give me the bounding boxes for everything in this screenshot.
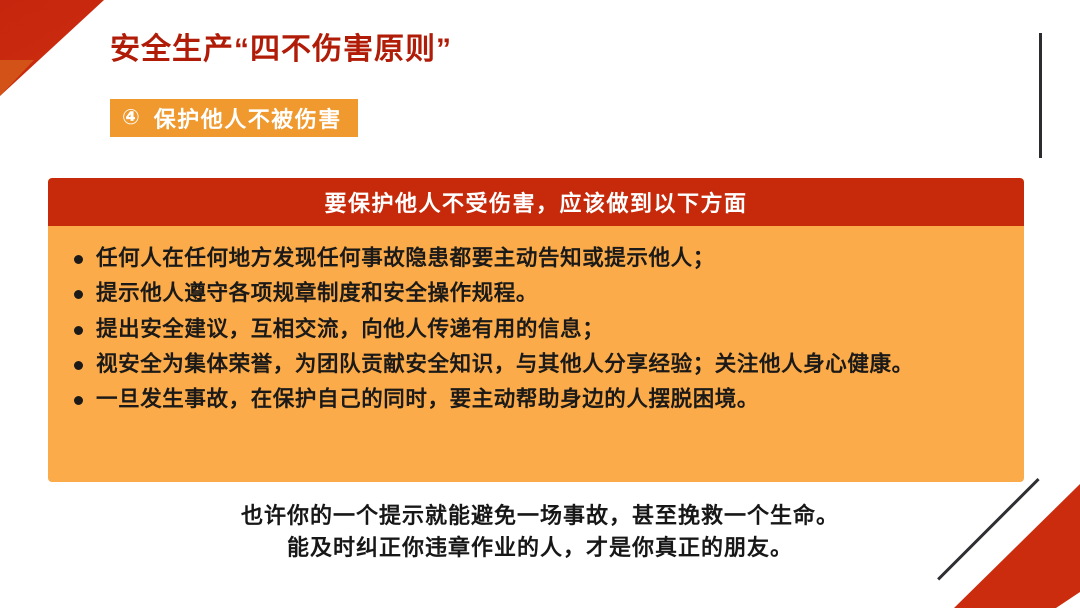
slide-canvas: 安全生产“四不伤害原则” ④ 保护他人不被伤害 要保护他人不受伤害，应该做到以下… — [0, 0, 1080, 608]
footer-note: 也许你的一个提示就能避免一场事故，甚至挽救一个生命。 能及时纠正你违章作业的人，… — [0, 500, 1080, 564]
list-item: 任何人在任何地方发现任何事故隐患都要主动告知或提示他人； — [70, 242, 1000, 275]
decorative-vertical-rule — [1039, 33, 1042, 158]
bullet-list: 任何人在任何地方发现任何事故隐患都要主动告知或提示他人； 提示他人遵守各项规章制… — [48, 226, 1024, 417]
decorative-corner-top-left — [0, 0, 104, 96]
list-item: 提示他人遵守各项规章制度和安全操作规程。 — [70, 277, 1000, 310]
page-title: 安全生产“四不伤害原则” — [110, 32, 452, 68]
content-panel: 要保护他人不受伤害，应该做到以下方面 任何人在任何地方发现任何事故隐患都要主动告… — [48, 178, 1024, 482]
footer-line-1: 也许你的一个提示就能避免一场事故，甚至挽救一个生命。 — [0, 500, 1080, 532]
list-item: 视安全为集体荣誉，为团队贡献安全知识，与其他人分享经验；关注他人身心健康。 — [70, 348, 1000, 381]
section-badge-label: 保护他人不被伤害 — [154, 102, 342, 134]
section-number: ④ — [122, 107, 140, 128]
panel-header: 要保护他人不受伤害，应该做到以下方面 — [48, 178, 1024, 226]
section-badge: ④ 保护他人不被伤害 — [110, 99, 358, 137]
footer-line-2: 能及时纠正你违章作业的人，才是你真正的朋友。 — [0, 532, 1080, 564]
list-item: 一旦发生事故，在保护自己的同时，要主动帮助身边的人摆脱困境。 — [70, 383, 1000, 416]
list-item: 提出安全建议，互相交流，向他人传递有用的信息； — [70, 313, 1000, 346]
decorative-corner-top-left-accent — [0, 60, 34, 96]
panel-header-label: 要保护他人不受伤害，应该做到以下方面 — [324, 186, 747, 218]
